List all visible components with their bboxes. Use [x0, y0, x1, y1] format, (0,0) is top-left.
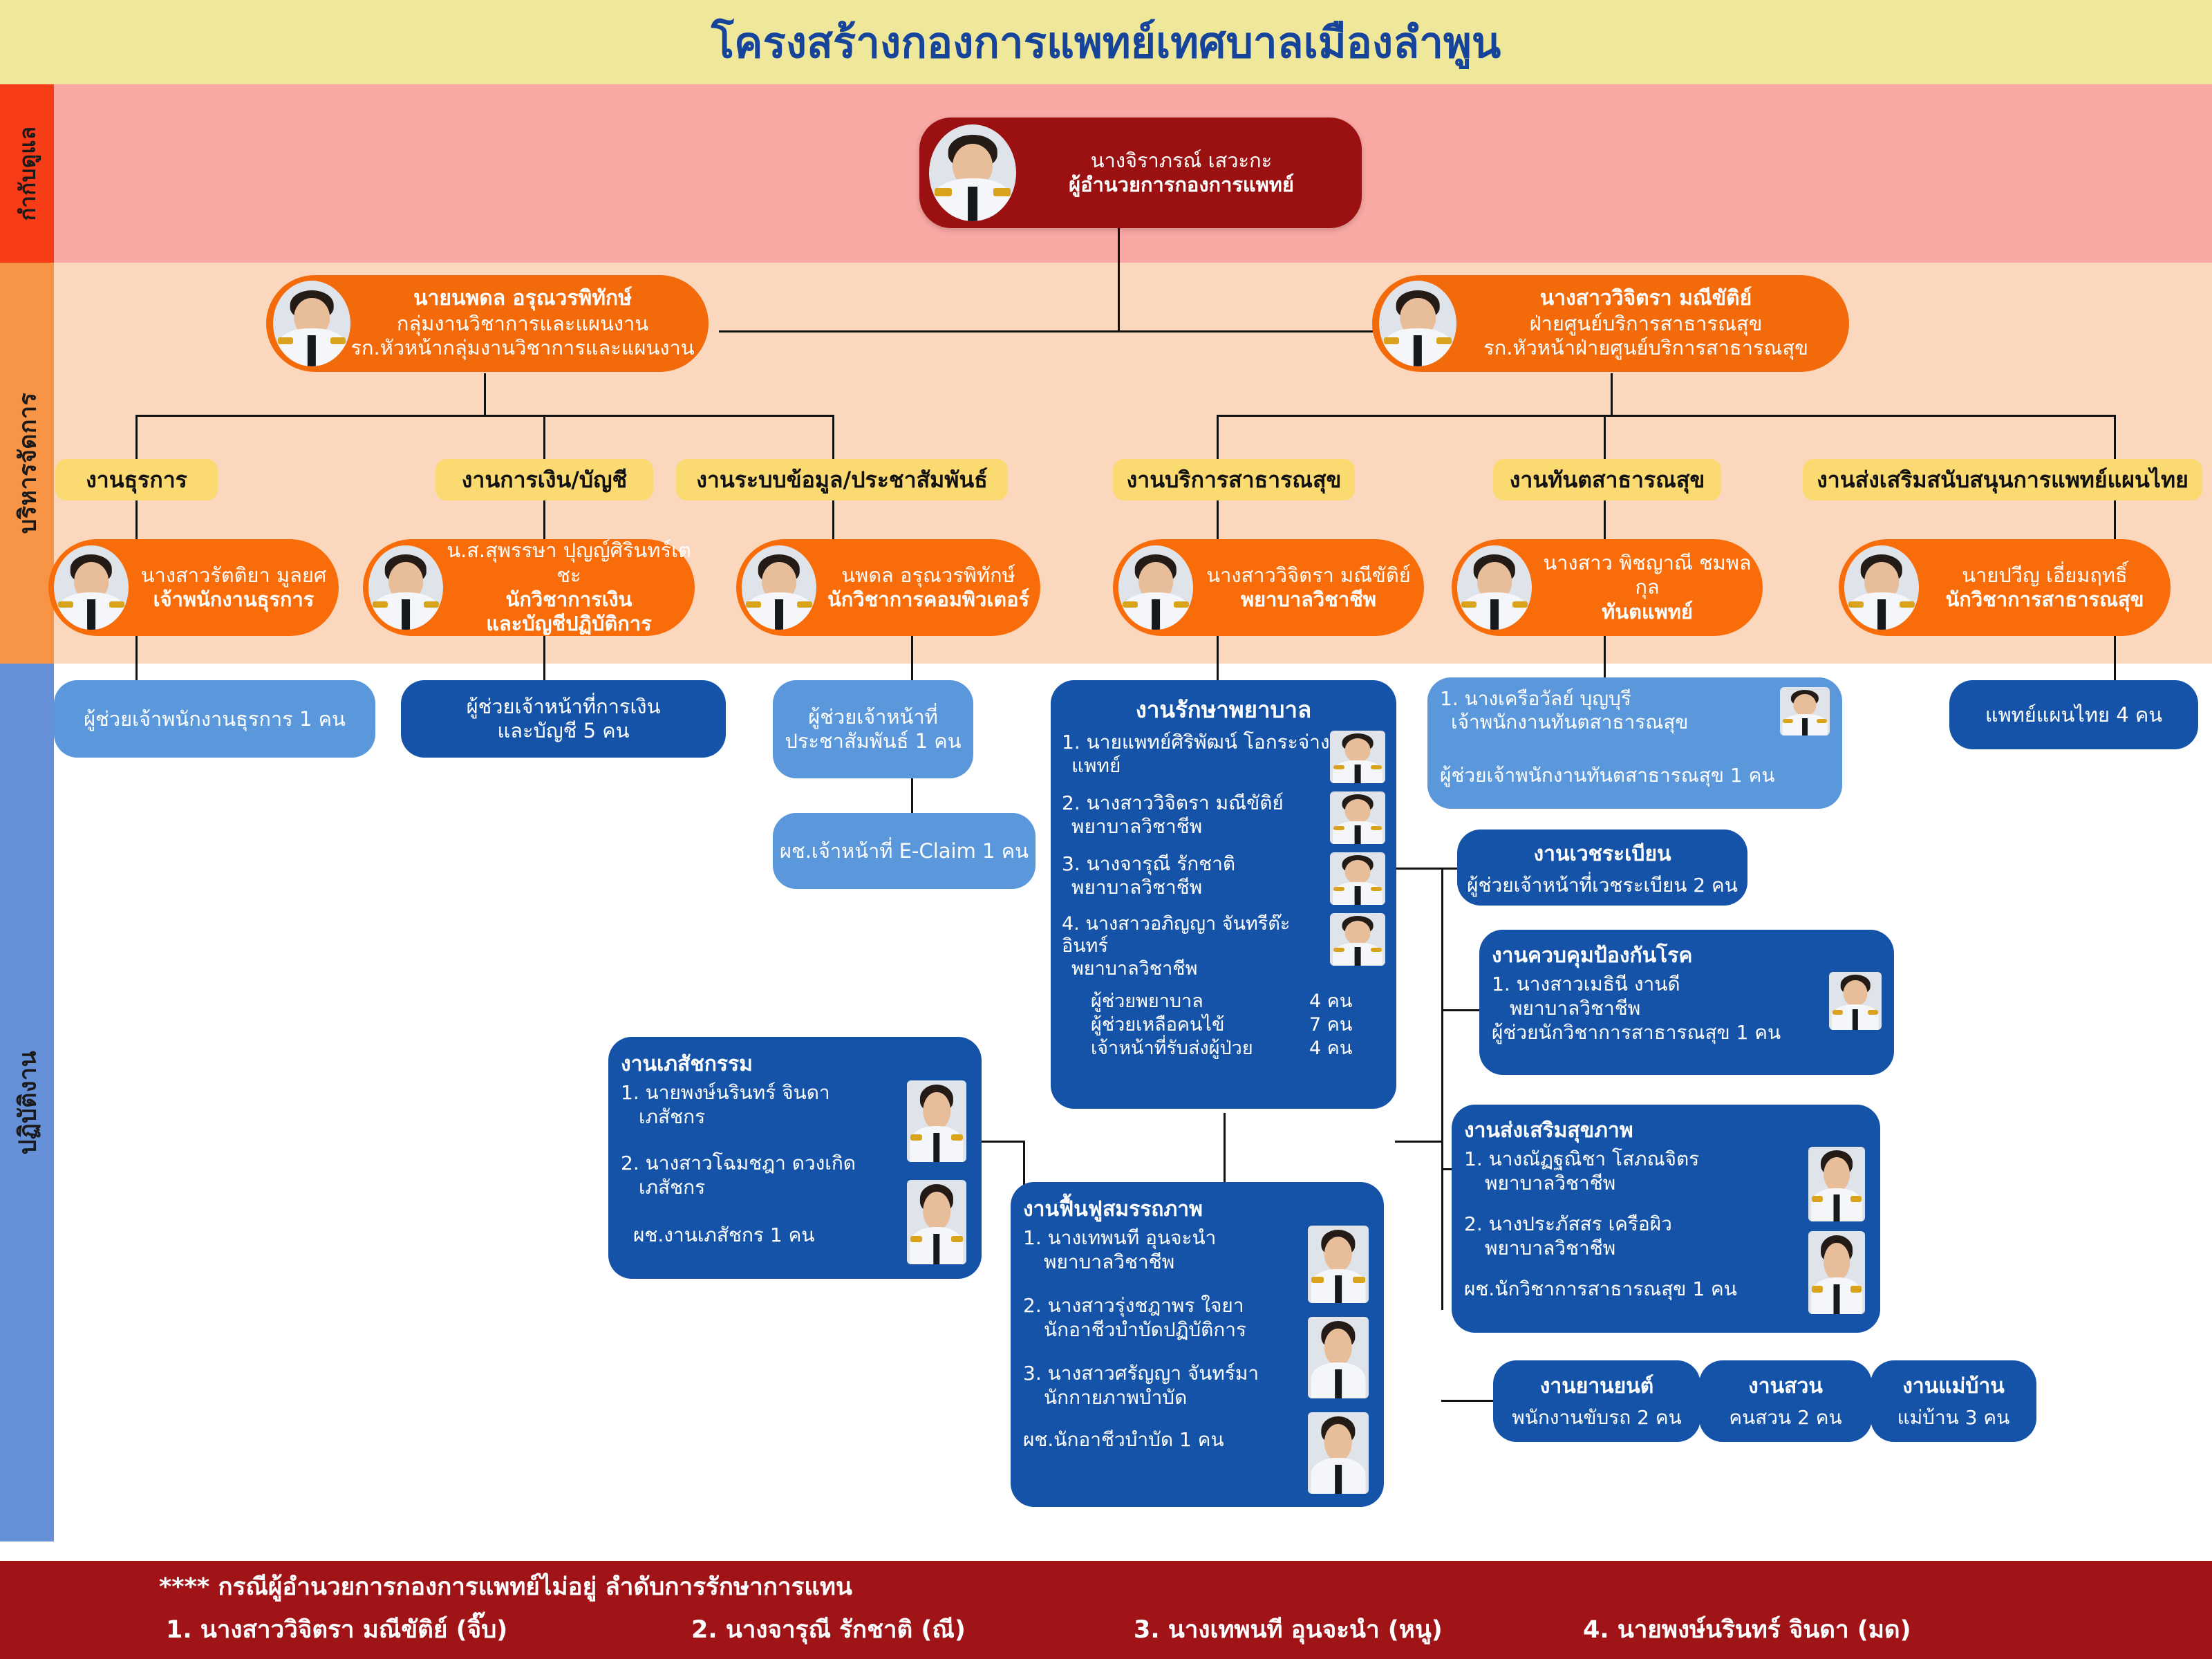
pharmacy-member-1-no: 1.	[621, 1081, 639, 1104]
connector-nursing-rehab	[1224, 1113, 1226, 1189]
staff-dentist-avatar	[1457, 545, 1532, 630]
connector-dept-1	[135, 415, 138, 460]
service-vehicle-title: งานยานยนต์	[1500, 1370, 1694, 1403]
support-pr-line2: ประชาสัมพันธ์ 1 คน	[773, 729, 973, 753]
connector-support-5	[1604, 636, 1606, 680]
rail-administer: บริหารจัดการ	[0, 263, 54, 664]
support-pr-line1: ผู้ช่วยเจ้าหน้าที่	[773, 705, 973, 729]
footer-successor-4: 4. นายพงษ์นรินทร์ จินดา (มด)	[1583, 1611, 1911, 1649]
staff-dentist-role: ทันตแพทย์	[1532, 600, 1763, 624]
support-thai-medicine-box[interactable]: แพทย์แผนไทย 4 คน	[1949, 680, 2198, 749]
dept-label-dental[interactable]: งานทันตสาธารณสุข	[1493, 459, 1721, 500]
nursing-count-1-value: 4 คน	[1309, 990, 1385, 1013]
staff-computer-role: นักวิชาการคอมพิวเตอร์	[816, 588, 1040, 612]
staff-dentist-name: นางสาว พิชญาณี ชมพลกุล	[1532, 551, 1763, 600]
connector-person-4	[1217, 500, 1219, 539]
deputy-academic-avatar	[273, 281, 350, 366]
director-avatar	[929, 124, 1016, 221]
rehab-member-1-role: พยาบาลวิชาชีพ	[1023, 1250, 1308, 1274]
connector-person-3	[832, 500, 834, 539]
dental-member-avatar	[1780, 687, 1830, 735]
nursing-member-3-name: นางจารุณี รักชาติ	[1087, 852, 1235, 875]
director-role: ผู้อำนวยการกองการแพทย์	[1022, 173, 1341, 197]
disease-control-member-no: 1.	[1492, 973, 1510, 995]
connector-nursing-medrecord	[1396, 868, 1457, 870]
dental-member-role: เจ้าพนักงานทันตสาธารณสุข	[1440, 711, 1780, 734]
staff-administration-role: เจ้าพนักงานธุรการ	[129, 588, 339, 612]
footer-white-strip	[0, 1541, 2212, 1561]
staff-dentist-node[interactable]: นางสาว พิชญาณี ชมพลกุล ทันตแพทย์	[1452, 539, 1763, 636]
health-promotion-assistant: ผช.นักวิชาการสาธารณสุข 1 คน	[1464, 1277, 1808, 1301]
nursing-box[interactable]: งานรักษาพยาบาล 1. นายแพทย์ศิริพัฒน์ โอกร…	[1051, 680, 1396, 1109]
connector-right-dept-bus	[1217, 415, 2115, 417]
connector-rehab-right	[1395, 1141, 1443, 1143]
connector-right-deputy-down	[1611, 373, 1613, 416]
staff-finance-avatar	[368, 545, 443, 630]
staff-computer-avatar	[742, 545, 816, 630]
staff-nursing-node[interactable]: นางสาววิจิตรา มณีขัติย์ พยาบาลวิชาชีพ	[1113, 539, 1424, 636]
rail-operate: ปฏิบัติงาน	[0, 664, 54, 1541]
dept-label-information-pr[interactable]: งานระบบข้อมูล/ประชาสัมพันธ์	[676, 459, 1008, 500]
staff-administration-avatar	[54, 545, 129, 630]
footer-successor-1: 1. นางสาววิจิตรา มณีขัติย์ (จิ๊บ)	[166, 1611, 507, 1649]
rehab-member-2-no: 2.	[1023, 1294, 1042, 1317]
nursing-member-4-avatar	[1330, 913, 1385, 966]
support-eclaim-box[interactable]: ผช.เจ้าหน้าที่ E-Claim 1 คน	[773, 813, 1035, 889]
disease-control-avatar	[1829, 972, 1882, 1030]
service-garden-box[interactable]: งานสวน คนสวน 2 คน	[1699, 1360, 1872, 1442]
rail-supervise: กำกับดูแล	[0, 84, 54, 263]
disease-control-title: งานควบคุมป้องกันโรค	[1492, 939, 1882, 972]
nursing-count-3-label: เจ้าหน้าที่รับส่งผู้ป่วย	[1091, 1037, 1309, 1060]
pharmacy-title: งานเภสัชกรรม	[621, 1048, 969, 1080]
support-eclaim-text: ผช.เจ้าหน้าที่ E-Claim 1 คน	[780, 835, 1029, 867]
deputy-academic-unit: กลุ่มงานวิชาการและแผนงาน	[350, 312, 695, 336]
health-promotion-member-1-role: พยาบาลวิชาชีพ	[1464, 1171, 1808, 1195]
connector-pharmacy-rehab	[982, 1141, 1023, 1143]
dental-box[interactable]: 1. นางเครือวัลย์ บุญบุรี เจ้าพนักงานทันต…	[1427, 677, 1842, 809]
deputy-academic-name: นายนพดล อรุณวรพิทักษ์	[350, 286, 695, 312]
service-housekeeping-line: แม่บ้าน 3 คน	[1877, 1403, 2030, 1433]
connector-director-down	[1118, 228, 1120, 332]
dept-label-administration[interactable]: งานธุรการ	[55, 459, 218, 500]
support-thai-medicine-text: แพทย์แผนไทย 4 คน	[1985, 699, 2162, 731]
rehab-box[interactable]: งานฟื้นฟูสมรรถภาพ 1. นางเทพนที อุนจะนำ พ…	[1011, 1182, 1384, 1507]
connector-dept-2	[543, 415, 545, 460]
health-promotion-member-2-avatar	[1808, 1231, 1865, 1314]
director-name: นางจิราภรณ์ เสวะกะ	[1022, 149, 1341, 173]
rehab-member-3-no: 3.	[1023, 1362, 1042, 1385]
health-promotion-member-1-no: 1.	[1464, 1147, 1483, 1170]
dental-member-no: 1.	[1440, 687, 1459, 710]
rehab-title: งานฟื้นฟูสมรรถภาพ	[1023, 1193, 1371, 1226]
nursing-member-4-name: นางสาวอภิญญา จันทรีต๊ะอินทร์	[1062, 913, 1290, 957]
support-finance-line1: ผู้ช่วยเจ้าหน้าที่การเงิน	[401, 695, 726, 719]
footer-successor-3: 3. นางเทพนที อุนจะนำ (หนู)	[1134, 1611, 1443, 1649]
connector-person-6	[2114, 500, 2116, 539]
service-housekeeping-title: งานแม่บ้าน	[1877, 1370, 2030, 1403]
connector-support-2	[543, 636, 545, 680]
org-chart-canvas: โครงสร้างกองการแพทย์เทศบาลเมืองลำพูน กำก…	[0, 0, 2212, 1659]
pharmacy-member-2-name: นางสาวโฉมชฎา ดวงเกิด	[646, 1152, 856, 1174]
staff-nursing-avatar	[1118, 545, 1193, 630]
nursing-member-3-avatar	[1330, 852, 1385, 905]
nursing-count-1-label: ผู้ช่วยพยาบาล	[1091, 990, 1309, 1013]
connector-dept-3	[832, 415, 834, 460]
dept-label-health-service[interactable]: งานบริการสาธารณสุข	[1113, 459, 1355, 500]
connector-left-deputy-down	[484, 373, 486, 416]
dental-assistant-text: ผู้ช่วยเจ้าพนักงานทันตสาธารณสุข 1 คน	[1440, 760, 1830, 791]
footer-headline: **** กรณีผู้อำนวยการกองการแพทย์ไม่อยู่ ล…	[159, 1568, 852, 1606]
nursing-member-2-name: นางสาววิจิตรา มณีขัติย์	[1087, 791, 1284, 814]
support-finance-box[interactable]: ผู้ช่วยเจ้าหน้าที่การเงิน และบัญชี 5 คน	[401, 680, 726, 758]
nursing-count-3-value: 4 คน	[1309, 1037, 1385, 1060]
rehab-member-3-name: นางสาวศรัญญา จันทร์มา	[1048, 1362, 1259, 1385]
rail-administer-label: บริหารจัดการ	[8, 393, 46, 534]
nursing-member-3-role: พยาบาลวิชาชีพ	[1062, 876, 1330, 899]
disease-control-assistant: ผู้ช่วยนักวิชาการสาธารณสุข 1 คน	[1492, 1020, 1829, 1044]
director-node[interactable]: นางจิราภรณ์ เสวะกะ ผู้อำนวยการกองการแพทย…	[919, 118, 1362, 228]
rehab-member-3-role: นักกายภาพบำบัด	[1023, 1385, 1308, 1409]
connector-deputy-bus	[719, 330, 1424, 332]
nursing-member-4-no: 4.	[1062, 913, 1080, 935]
connector-person-1	[135, 500, 138, 539]
nursing-member-2-role: พยาบาลวิชาชีพ	[1062, 815, 1330, 838]
connector-left-dept-bus	[135, 415, 834, 417]
rehab-member-2-avatar	[1308, 1317, 1369, 1398]
rehab-member-2-role: นักอาชีวบำบัดปฏิบัติการ	[1023, 1318, 1308, 1342]
service-vehicle-line: พนักงานขับรถ 2 คน	[1500, 1403, 1694, 1433]
rehab-member-1-name: นางเทพนที อุนจะนำ	[1048, 1226, 1217, 1249]
deputy-phc-acting: รก.หัวหน้าฝ่ายศูนย์บริการสาธารณสุข	[1456, 336, 1835, 360]
deputy-phc-unit: ฝ่ายศูนย์บริการสาธารณสุข	[1456, 312, 1835, 336]
nursing-member-2-avatar	[1330, 791, 1385, 844]
nursing-member-4-role: พยาบาลวิชาชีพ	[1062, 958, 1330, 980]
support-pr-box[interactable]: ผู้ช่วยเจ้าหน้าที่ ประชาสัมพันธ์ 1 คน	[773, 680, 973, 778]
connector-deputy-left	[719, 330, 720, 332]
nursing-member-1-name: นายแพทย์ศิริพัฒน์ โอกระจ่าง	[1087, 731, 1330, 753]
connector-right-column-bus	[1441, 868, 1443, 1310]
dept-label-thai-medicine[interactable]: งานส่งเสริมสนับสนุนการแพทย์แผนไทย	[1803, 459, 2202, 500]
dental-member-name: นางเครือวัลย์ บุญบุรี	[1465, 687, 1631, 710]
staff-finance-role2: และบัญชีปฏิบัติการ	[443, 612, 695, 636]
footer-successor-2: 2. นางจารุณี รักชาติ (ณี)	[691, 1611, 966, 1649]
support-administration-text: ผู้ช่วยเจ้าพนักงานธุรการ 1 คน	[84, 703, 346, 735]
pharmacy-assistant: ผช.งานเภสัชกร 1 คน	[621, 1223, 907, 1247]
pharmacy-member-1-role: เภสัชกร	[621, 1105, 907, 1129]
nursing-box-title: งานรักษาพยาบาล	[1062, 691, 1385, 728]
deputy-phc-avatar	[1379, 281, 1456, 366]
service-garden-line: คนสวน 2 คน	[1706, 1403, 1865, 1433]
rehab-member-1-avatar	[1308, 1226, 1369, 1303]
staff-finance-node[interactable]: น.ส.สุพรรษา ปุญญ์ศิรินทร์เตชะ นักวิชาการ…	[363, 539, 695, 636]
staff-public-health-node[interactable]: นายปวีญ เอี่ยมฤทธิ์ นักวิชาการสาธารณสุข	[1839, 539, 2171, 636]
rail-supervise-label: กำกับดูแล	[10, 126, 44, 221]
staff-administration-node[interactable]: นางสาวรัตติยา มูลยศ เจ้าพนักงานธุรการ	[48, 539, 339, 636]
health-promotion-member-2-role: พยาบาลวิชาชีพ	[1464, 1236, 1808, 1260]
dept-label-finance[interactable]: งานการเงิน/บัญชี	[435, 459, 653, 500]
service-garden-title: งานสวน	[1706, 1370, 1865, 1403]
health-promotion-title: งานส่งเสริมสุขภาพ	[1464, 1114, 1868, 1147]
disease-control-member-name: นางสาวเมธินี งานดี	[1517, 973, 1680, 995]
staff-finance-name: น.ส.สุพรรษา ปุญญ์ศิรินทร์เตชะ	[443, 538, 695, 588]
connector-support-3	[911, 636, 913, 680]
nursing-count-2-label: ผู้ช่วยเหลือคนไข้	[1091, 1013, 1309, 1037]
medical-record-line: ผู้ช่วยเจ้าหน้าที่เวชระเบียน 2 คน	[1467, 870, 1738, 901]
nursing-member-1-avatar	[1330, 731, 1385, 783]
staff-computer-node[interactable]: นพดล อรุณวรพิทักษ์ นักวิชาการคอมพิวเตอร์	[736, 539, 1040, 636]
pharmacy-box[interactable]: งานเภสัชกรรม 1. นายพงษ์นรินทร์ จินดา เภส…	[608, 1037, 982, 1279]
deputy-academic-acting: รก.หัวหน้ากลุ่มงานวิชาการและแผนงาน	[350, 336, 695, 360]
pharmacy-member-1-avatar	[907, 1080, 966, 1162]
disease-control-box[interactable]: งานควบคุมป้องกันโรค 1. นางสาวเมธินี งานด…	[1479, 930, 1894, 1075]
staff-public-health-role: นักวิชาการสาธารณสุข	[1919, 588, 2171, 612]
service-vehicle-box[interactable]: งานยานยนต์ พนักงานขับรถ 2 คน	[1493, 1360, 1700, 1442]
medical-record-title: งานเวชระเบียน	[1467, 838, 1738, 870]
rehab-member-2-name: นางสาวรุ่งชฎาพร ใจยา	[1048, 1294, 1244, 1317]
deputy-academic-node[interactable]: นายนพดล อรุณวรพิทักษ์ กลุ่มงานวิชาการและ…	[266, 275, 709, 372]
connector-person-2	[543, 500, 545, 539]
staff-nursing-role: พยาบาลวิชาชีพ	[1193, 588, 1424, 612]
pharmacy-member-1-name: นายพงษ์นรินทร์ จินดา	[646, 1081, 830, 1104]
deputy-phc-node[interactable]: นางสาววิจิตรา มณีขัติย์ ฝ่ายศูนย์บริการส…	[1372, 275, 1849, 372]
staff-computer-name: นพดล อรุณวรพิทักษ์	[816, 563, 1040, 588]
rehab-member-3-avatar	[1308, 1412, 1369, 1494]
rehab-assistant: ผช.นักอาชีวบำบัด 1 คน	[1023, 1427, 1308, 1452]
connector-support-1	[135, 636, 138, 680]
rail-operate-label: ปฏิบัติงาน	[8, 1051, 46, 1155]
pharmacy-member-2-no: 2.	[621, 1152, 639, 1174]
connector-rehab-stem	[1023, 1141, 1025, 1189]
service-housekeeping-box[interactable]: งานแม่บ้าน แม่บ้าน 3 คน	[1871, 1360, 2036, 1442]
staff-administration-name: นางสาวรัตติยา มูลยศ	[129, 563, 339, 588]
health-promotion-member-2-no: 2.	[1464, 1212, 1483, 1235]
connector-dept-5	[1604, 415, 1606, 460]
page-title: โครงสร้างกองการแพทย์เทศบาลเมืองลำพูน	[0, 4, 2212, 82]
connector-eclaim	[911, 778, 913, 813]
connector-services-bus	[1441, 1400, 1497, 1402]
nursing-member-1-no: 1.	[1062, 731, 1080, 753]
staff-public-health-name: นายปวีญ เอี่ยมฤทธิ์	[1919, 563, 2171, 588]
nursing-count-2-value: 7 คน	[1309, 1013, 1385, 1037]
nursing-member-3-no: 3.	[1062, 852, 1080, 875]
nursing-member-1-role: แพทย์	[1062, 754, 1330, 778]
connector-disease-control	[1441, 1009, 1481, 1011]
rehab-member-1-no: 1.	[1023, 1226, 1042, 1249]
support-finance-line2: และบัญชี 5 คน	[401, 719, 726, 743]
connector-support-6	[2114, 636, 2116, 680]
health-promotion-member-1-avatar	[1808, 1147, 1865, 1221]
pharmacy-member-2-avatar	[907, 1180, 966, 1264]
health-promotion-box[interactable]: งานส่งเสริมสุขภาพ 1. นางณัฏฐณิชา โสภณจิต…	[1452, 1105, 1880, 1333]
support-administration-box[interactable]: ผู้ช่วยเจ้าพนักงานธุรการ 1 คน	[54, 680, 375, 758]
nursing-member-2-no: 2.	[1062, 791, 1080, 814]
staff-finance-role: นักวิชาการเงิน	[443, 588, 695, 612]
health-promotion-member-1-name: นางณัฏฐณิชา โสภณจิตร	[1489, 1147, 1700, 1170]
pharmacy-member-2-role: เภสัชกร	[621, 1175, 907, 1199]
staff-nursing-name: นางสาววิจิตรา มณีขัติย์	[1193, 563, 1424, 588]
connector-dept-6	[2114, 415, 2116, 460]
medical-record-box[interactable]: งานเวชระเบียน ผู้ช่วยเจ้าหน้าที่เวชระเบี…	[1457, 829, 1747, 906]
connector-support-4	[1217, 636, 1219, 680]
disease-control-member-role: พยาบาลวิชาชีพ	[1492, 996, 1829, 1020]
health-promotion-member-2-name: นางประภัสสร เครือผิว	[1489, 1212, 1672, 1235]
connector-dept-4	[1217, 415, 1219, 460]
connector-person-5	[1604, 500, 1606, 539]
staff-public-health-avatar	[1844, 545, 1919, 630]
deputy-phc-name: นางสาววิจิตรา มณีขัติย์	[1456, 286, 1835, 312]
